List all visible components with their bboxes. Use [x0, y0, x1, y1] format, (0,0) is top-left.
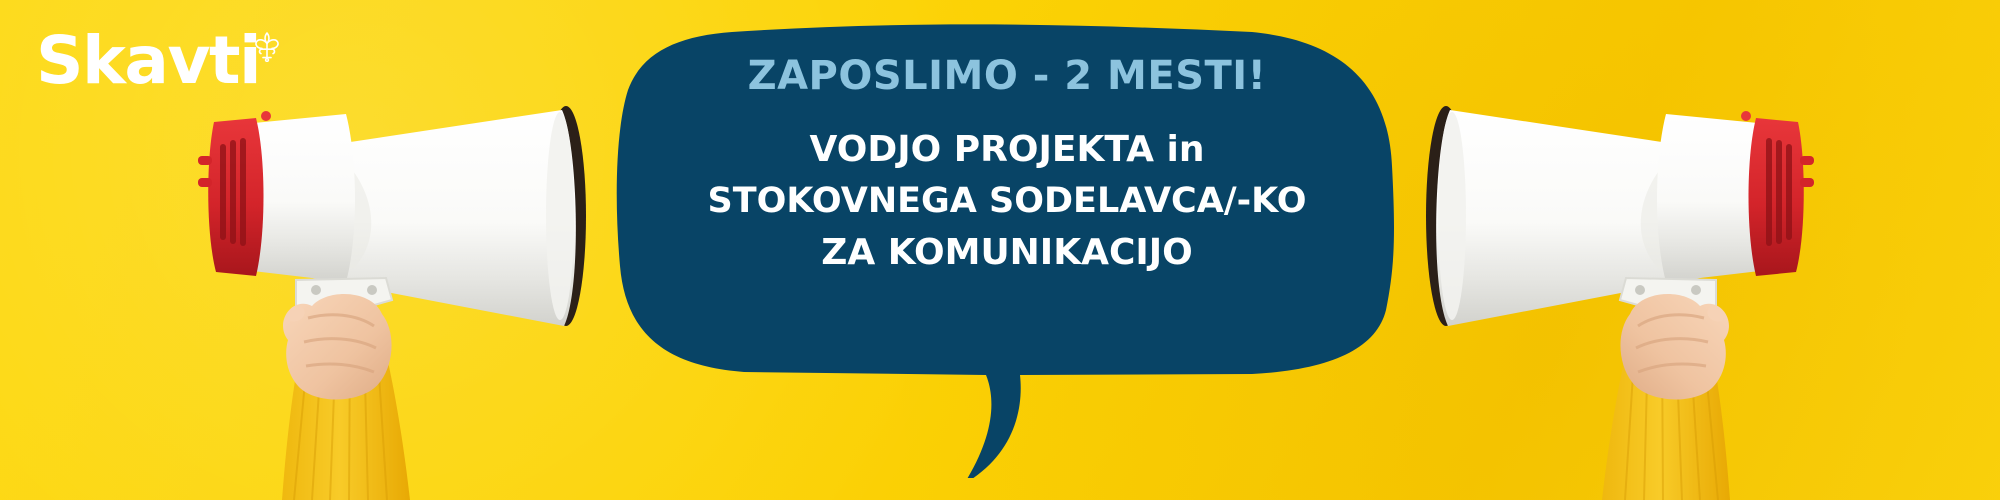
speech-bubble-text: ZAPOSLIMO - 2 MESTI! VODJO PROJEKTA in S… — [612, 54, 1402, 279]
horn-bell-inner — [1438, 112, 1466, 320]
right-megaphone-image — [1376, 100, 1816, 500]
fleur-de-lis-icon — [252, 30, 282, 67]
cap-button — [198, 156, 212, 165]
handle-screw — [311, 285, 321, 295]
cap-antenna-knob — [1741, 111, 1751, 121]
cap-antenna-knob — [261, 111, 271, 121]
handle-screw — [1635, 285, 1645, 295]
job-line-1: VODJO PROJEKTA in — [634, 124, 1380, 176]
left-megaphone-image — [196, 100, 636, 500]
horn-bell-inner — [546, 112, 574, 320]
cap-button — [1800, 156, 1814, 165]
job-advert-banner: ZAPOSLIMO - 2 MESTI! VODJO PROJEKTA in S… — [0, 0, 2000, 500]
job-line-2: STOKOVNEGA SODELAVCA/-KO — [634, 176, 1380, 227]
logo-wordmark: Skavti — [36, 28, 260, 94]
cap-button — [1800, 178, 1814, 187]
cap-vents — [1766, 138, 1792, 246]
handle-screw — [367, 285, 377, 295]
cap-button — [198, 178, 212, 187]
speech-bubble: ZAPOSLIMO - 2 MESTI! VODJO PROJEKTA in S… — [612, 18, 1402, 478]
headline-zaposlimo: ZAPOSLIMO - 2 MESTI! — [634, 54, 1380, 98]
job-line-3: ZA KOMUNIKACIJO — [634, 227, 1380, 279]
cap-vents — [220, 138, 246, 246]
skavti-logo[interactable]: Skavti — [36, 28, 282, 94]
handle-screw — [1691, 285, 1701, 295]
